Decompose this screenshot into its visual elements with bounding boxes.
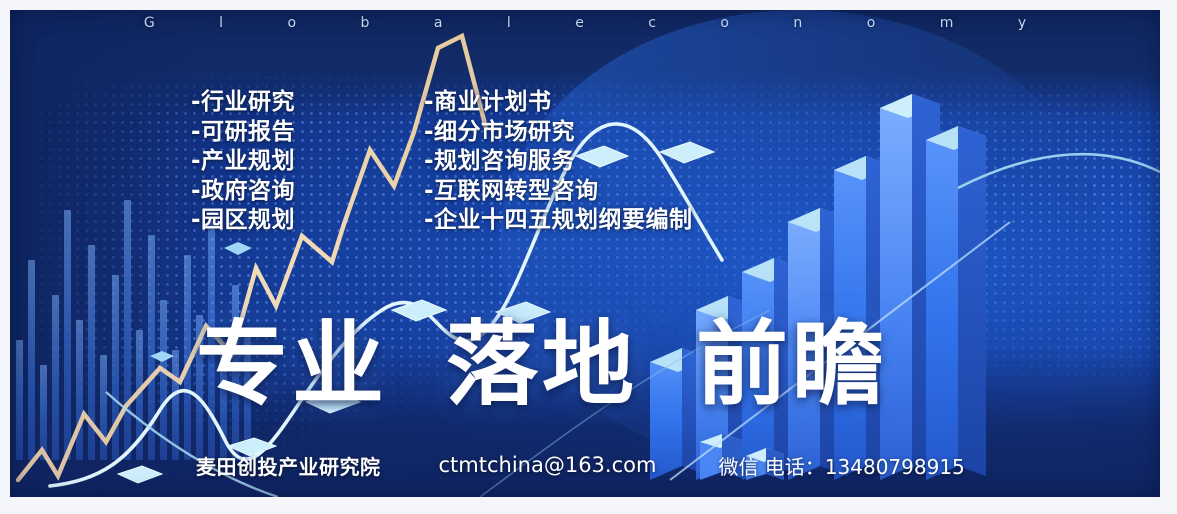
email-address[interactable]: ctmtchina@163.com [439,453,657,477]
footer-contact-bar: 麦田创投产业研究院 ctmtchina@163.com 微信 电话：134807… [196,450,965,480]
service-item: -园区规划 [191,206,295,236]
service-item: -企业十四五规划纲要编制 [424,206,693,236]
top-caption: G l o b a l e c o n o m y [10,10,1160,36]
promo-banner: G l o b a l e c o n o m y -行业研究 -可研报告 -产… [10,10,1160,497]
service-item: -互联网转型咨询 [424,177,693,207]
service-item: -可研报告 [191,118,295,148]
phone-contact: 微信 电话：13480798915 [718,451,964,480]
services-column-left: -行业研究 -可研报告 -产业规划 -政府咨询 -园区规划 [191,88,295,236]
service-item: -行业研究 [191,88,295,118]
service-item: -商业计划书 [424,88,693,118]
service-item: -产业规划 [191,147,295,177]
headline-word-3: 前瞻 [696,319,888,411]
economy-chart-artwork [10,10,1160,497]
headline-word-2: 落地 [446,319,638,411]
headline: 专业 落地 前瞻 [196,310,1026,420]
services-column-right: -商业计划书 -细分市场研究 -规划咨询服务 -互联网转型咨询 -企业十四五规划… [424,88,693,236]
service-item: -细分市场研究 [424,118,693,148]
service-item: -政府咨询 [191,177,295,207]
company-name: 麦田创投产业研究院 [196,451,381,480]
headline-word-1: 专业 [196,319,388,411]
service-item: -规划咨询服务 [424,147,693,177]
